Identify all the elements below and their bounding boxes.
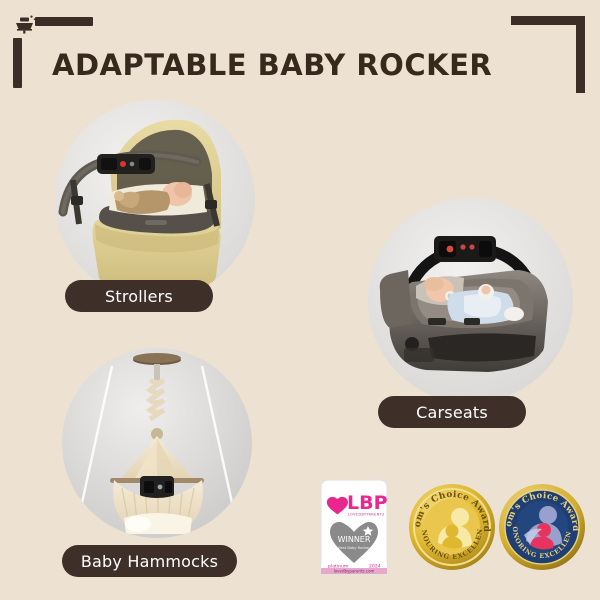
moms-choice-awards-gold-badge: Mom's Choice Awards HONOURING EXCELLENCE — [408, 483, 496, 571]
category-label-carseats-text: Carseats — [416, 403, 488, 422]
top-left-frame-bar — [35, 17, 93, 26]
top-left-frame-vertical — [13, 38, 22, 88]
category-label-hammocks[interactable]: Baby Hammocks — [62, 545, 237, 577]
svg-text:LBP: LBP — [347, 492, 388, 514]
moms-choice-awards-blue-badge: Mom's Choice Awards HONORING EXCELLENCE — [498, 483, 586, 571]
category-label-hammocks-text: Baby Hammocks — [81, 552, 218, 571]
poster-canvas: ADAPTABLE BABY ROCKER — [0, 0, 600, 600]
category-label-strollers-text: Strollers — [105, 287, 173, 306]
baby-cradle-icon — [9, 14, 39, 44]
stroller-photo — [55, 100, 255, 300]
carseat-photo — [368, 198, 573, 403]
lbp-award-badge: LBP LOVEDBYPARENTS WINNER Best Baby Rock… — [320, 479, 388, 575]
svg-text:lovedbyparents.com: lovedbyparents.com — [334, 568, 375, 573]
top-right-corner-frame — [511, 16, 585, 93]
svg-text:WINNER: WINNER — [338, 535, 371, 544]
hammock-photo — [62, 348, 252, 538]
svg-text:Best Baby Rocker: Best Baby Rocker — [338, 546, 370, 550]
category-label-carseats[interactable]: Carseats — [378, 396, 526, 428]
category-label-strollers[interactable]: Strollers — [65, 280, 213, 312]
page-title: ADAPTABLE BABY ROCKER — [52, 48, 492, 82]
svg-text:LOVEDBYPARENTS: LOVEDBYPARENTS — [348, 513, 385, 517]
